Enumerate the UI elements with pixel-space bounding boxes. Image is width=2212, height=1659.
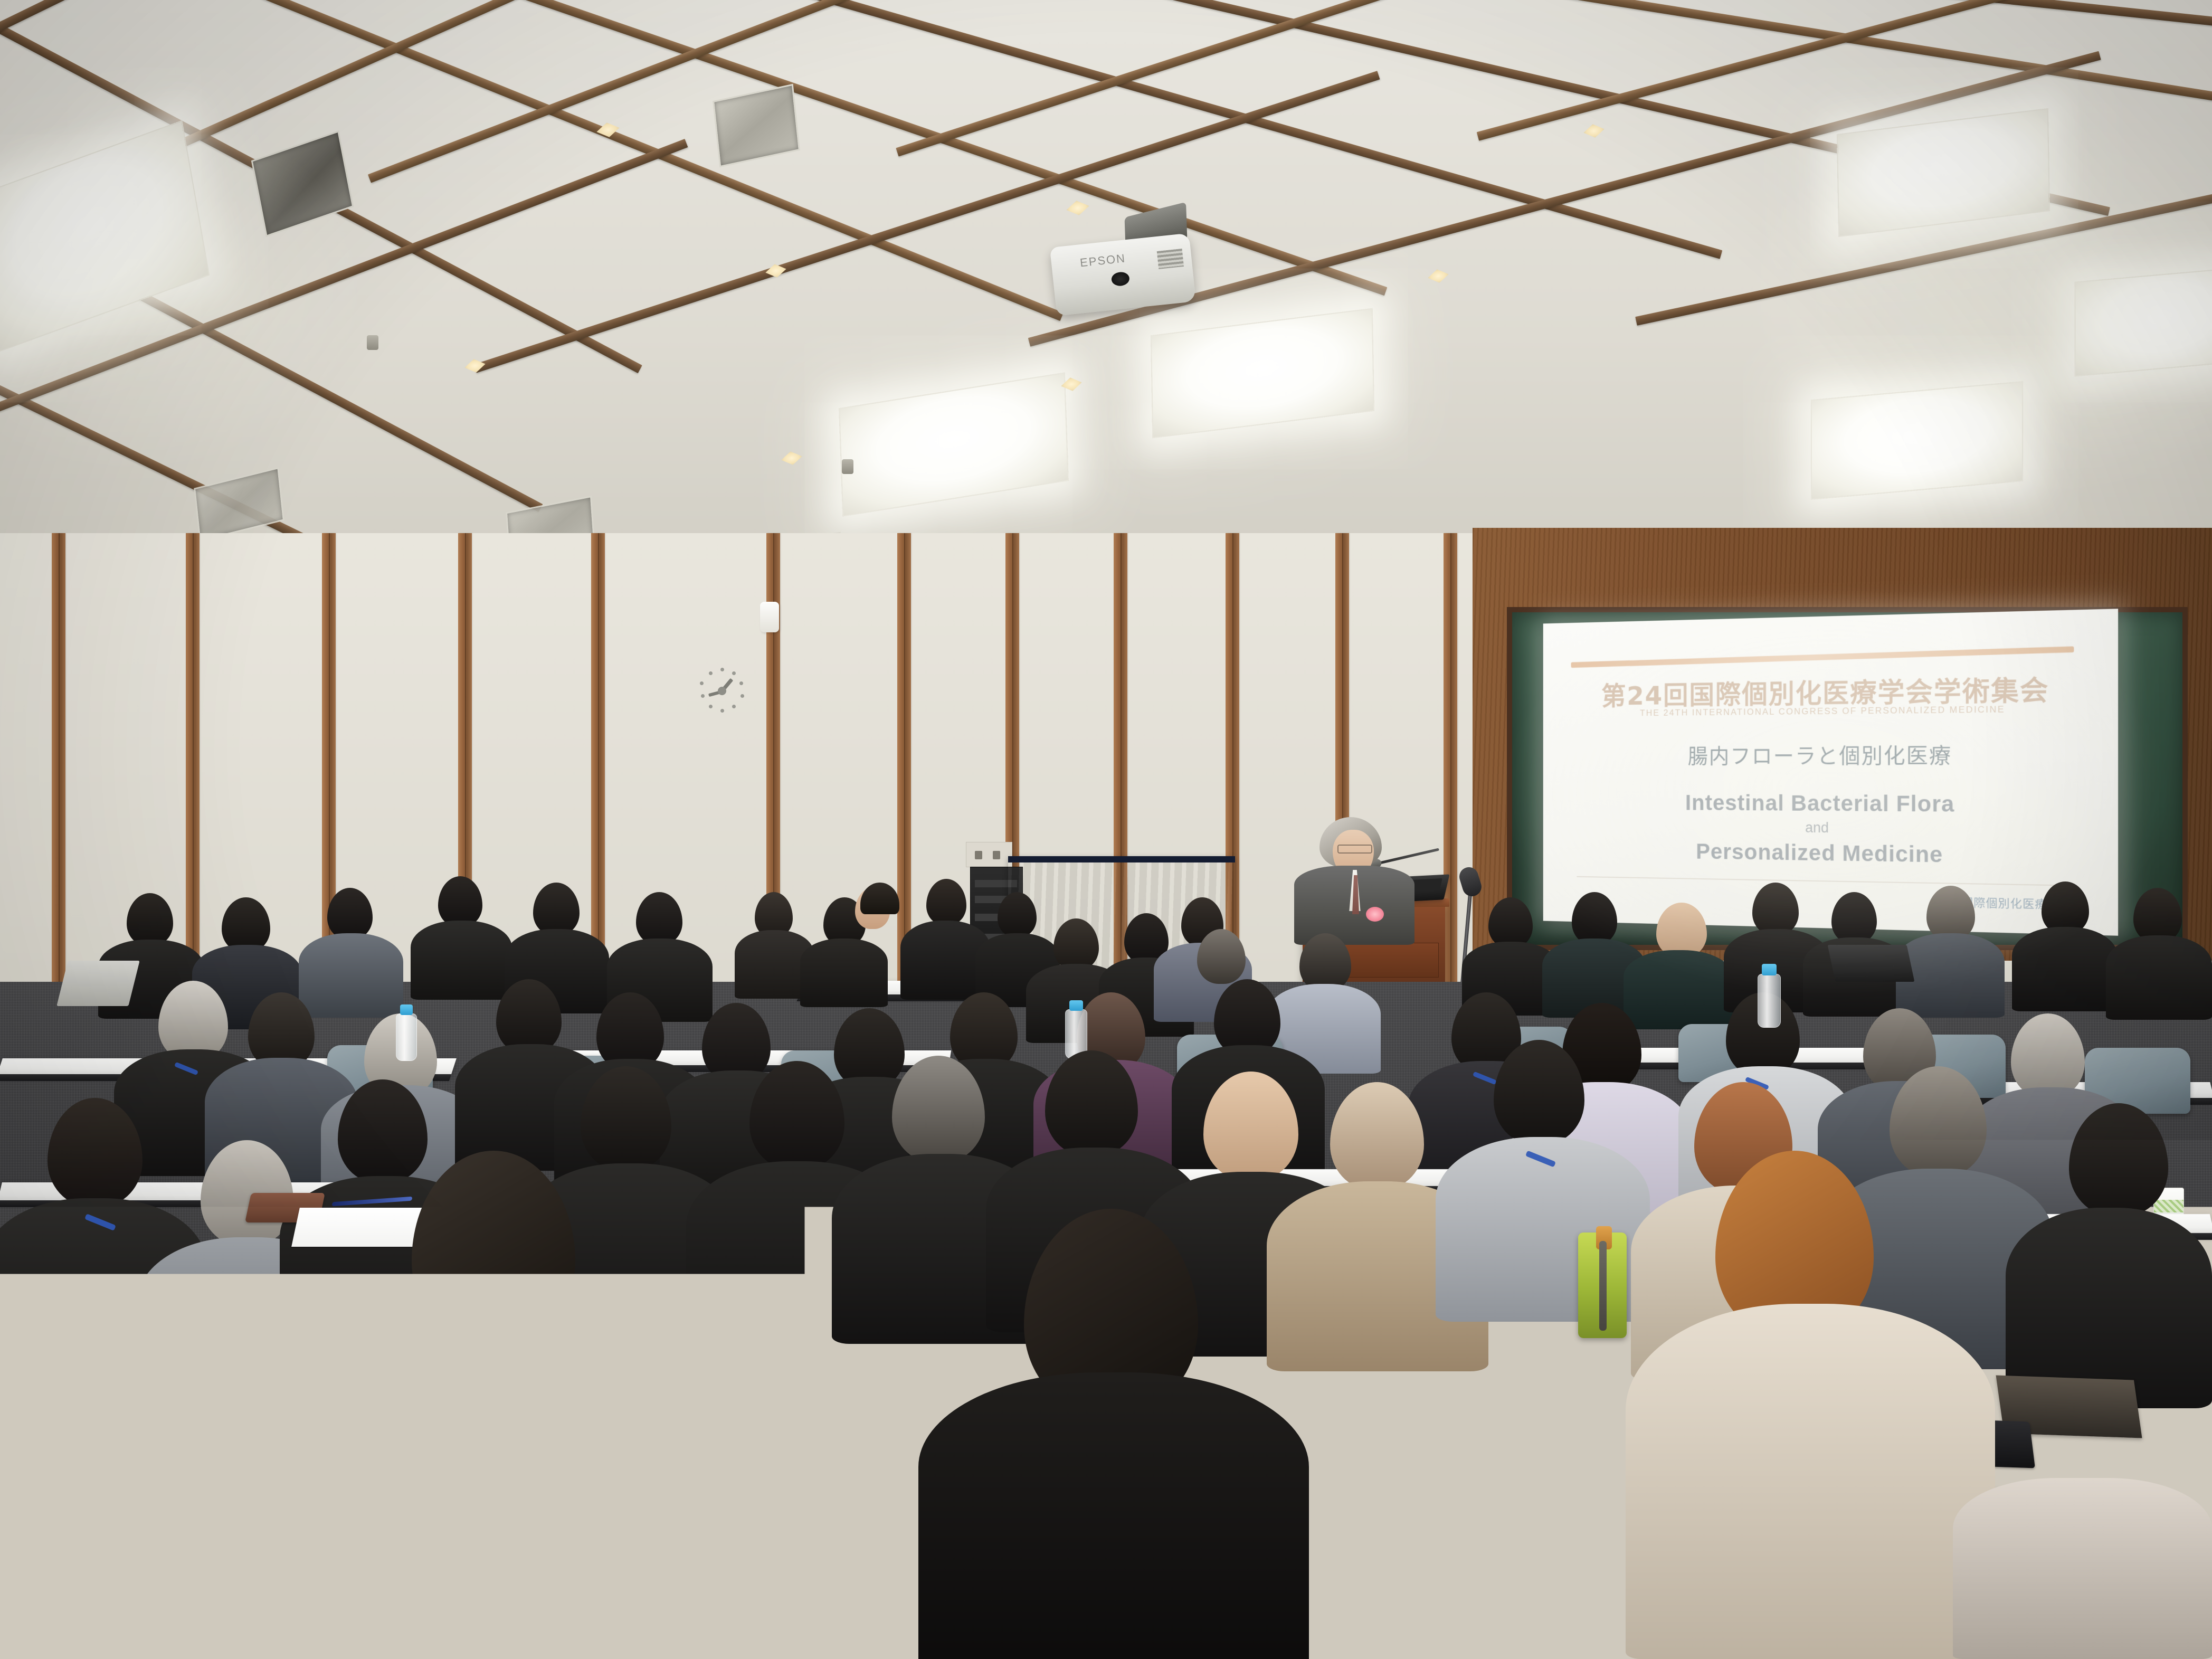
ceiling-light-panel: [2075, 267, 2212, 377]
attendee-laptop: [56, 961, 139, 1006]
presenter-corsage: [1366, 907, 1384, 922]
wall-clock: [699, 668, 745, 713]
slide-accent-bar: [1571, 646, 2074, 668]
projector: EPSON: [1050, 233, 1196, 316]
wall-wood-strip: [1444, 533, 1457, 1008]
ceiling-downlight: [1582, 122, 1606, 140]
ceiling-light-panel: [839, 372, 1069, 516]
water-bottle: [396, 1013, 417, 1061]
slide-lecture-title-en-line1: Intestinal Bacterial Flora: [1543, 790, 2118, 818]
attendee-laptop: [1828, 945, 1915, 982]
ceiling-beam: [0, 0, 582, 72]
wall-wood-strip: [186, 533, 200, 1008]
projector-vent: [1157, 249, 1184, 269]
ceiling-downlight: [1065, 198, 1090, 217]
wall-wood-strip: [52, 533, 65, 1008]
projector-brand-label: EPSON: [1079, 251, 1126, 270]
ceiling-downlight: [1427, 268, 1450, 285]
slide-lecture-title-en-conjunction: and: [1543, 818, 2118, 839]
slide-divider: [1577, 876, 2069, 886]
ceiling-downlight: [463, 357, 487, 375]
conference-hall-photo: EPSON 第24回国際個別化医療学会学術集会 THE 24TH INTERNA…: [0, 0, 2212, 1659]
sprinkler-head: [842, 459, 853, 474]
projector-lens-icon: [1111, 271, 1131, 287]
projection-screen: 第24回国際個別化医療学会学術集会 THE 24TH INTERNATIONAL…: [1543, 609, 2118, 936]
ceiling-light-panel: [1811, 381, 2023, 500]
wall-fixture: [760, 602, 779, 632]
av-wall-plate: [966, 842, 1012, 867]
eyeglasses-icon: [1337, 845, 1372, 854]
ceiling-vent: [194, 467, 284, 542]
ceiling-light-panel: [1837, 108, 2050, 237]
bottle-pouch: [1578, 1233, 1627, 1338]
water-bottle: [1557, 1494, 1603, 1632]
ceiling: EPSON: [0, 0, 2212, 560]
slide-lecture-title-en-line2: Personalized Medicine: [1543, 837, 2118, 870]
smartphone-case: [185, 1315, 284, 1358]
ceiling-vent: [713, 84, 800, 167]
ceiling-downlight: [780, 450, 803, 467]
slide-lecture-title-jp: 腸内フローラと個別化医療: [1543, 737, 2118, 770]
pouch-zipper: [1599, 1241, 1607, 1331]
ceiling-vent: [251, 130, 354, 237]
sprinkler-head: [367, 335, 378, 350]
water-bottle: [1758, 974, 1781, 1028]
ceiling-light-panel: [1151, 308, 1374, 439]
